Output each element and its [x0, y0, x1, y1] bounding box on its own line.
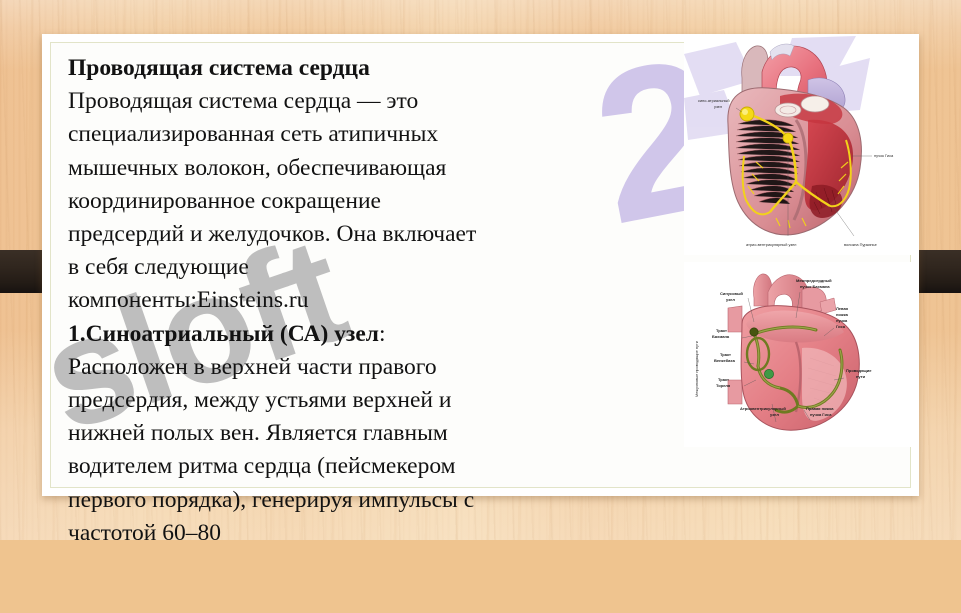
diagram2-label-2: Межпредсердный	[796, 278, 832, 283]
diagram2-label-18: Правая ножка	[806, 406, 834, 411]
diagram2-label-9: Бахмана	[712, 334, 730, 339]
slide-line-4: предсердий и желудочков. Она включает	[68, 218, 668, 251]
slide-line2-2: нижней полых вен. Является главным	[68, 417, 668, 450]
diagram2-label-11: Венкебаха	[714, 358, 736, 363]
diagram2-label-3: пучок Бахмана	[800, 284, 830, 289]
slide-subheading: 1.Синоатриальный (СА) узел	[68, 321, 379, 347]
heart-conduction-anatomy-diagram: сино-атриальный узел пучок Гиса атрио-ве…	[684, 36, 912, 255]
diagram2-label-12: Тракт	[718, 377, 729, 382]
diagram2-label-17: узел	[770, 412, 779, 417]
diagram1-label-0: сино-атриальный	[698, 98, 730, 103]
diagram2-label-15: пути	[856, 374, 866, 379]
diagram2-label-5: ножка	[836, 312, 849, 317]
diagram2-label-16: Атриовентрикулярный	[740, 406, 786, 411]
diagram1-label-2: пучок Гиса	[874, 153, 894, 158]
diagram2-label-7: Гиса	[836, 324, 846, 329]
slide-line2-4: первого порядка), генерируя импульсы с	[68, 484, 668, 517]
diagram2-vertical-label: Межузловые проводящие пути	[694, 341, 699, 397]
diagram2-label-14: Проводящие	[846, 368, 872, 373]
diagram2-label-19: пучка Гиса	[810, 412, 832, 417]
diagram2-label-10: Тракт	[720, 352, 731, 357]
slide-line2-3: водителем ритма сердца (пейсмекером	[68, 450, 668, 483]
diagram2-label-0: Синусовый	[720, 291, 743, 296]
slide-line2-1: предсердия, между устьями верхней и	[68, 384, 668, 417]
slide-line-6: компоненты:Einsteins.ru	[68, 284, 668, 317]
diagram2-label-8: Тракт	[716, 328, 727, 333]
diagram1-label-4: волокна Пуркинье	[844, 242, 877, 247]
diagram1-label-3: атрио-вентрикулярный узел	[746, 242, 796, 247]
diagram2-label-13: Тореля	[716, 383, 731, 388]
slide-line2-0: Расположен в верхней части правого	[68, 351, 668, 384]
slide-line-1: специализированная сеть атипичных	[68, 118, 668, 151]
diagram2-label-4: Левая	[836, 306, 849, 311]
slide-text-column: Проводящая система сердца Проводящая сис…	[68, 52, 668, 550]
heart-conduction-pathways-diagram: Межузловые проводящие пути Синусовый узе…	[684, 262, 912, 447]
slide-subheading-colon: :	[379, 321, 386, 347]
slide-subheading-row: 1.Синоатриальный (СА) узел:	[68, 318, 668, 351]
slide-line-0: Проводящая система сердца — это	[68, 85, 668, 118]
diagram2-label-1: узел	[726, 297, 735, 302]
slide-heading: Проводящая система сердца	[68, 52, 668, 85]
slide-line-3: координированное сокращение	[68, 185, 668, 218]
slide-line-5: в себя следующие	[68, 251, 668, 284]
slide-overflow-line: частотой 60–80	[68, 517, 668, 550]
slide-line-2: мышечных волокон, обеспечивающая	[68, 152, 668, 185]
diagram1-label-1: узел	[714, 104, 722, 109]
diagram2-label-6: пучка	[836, 318, 848, 323]
